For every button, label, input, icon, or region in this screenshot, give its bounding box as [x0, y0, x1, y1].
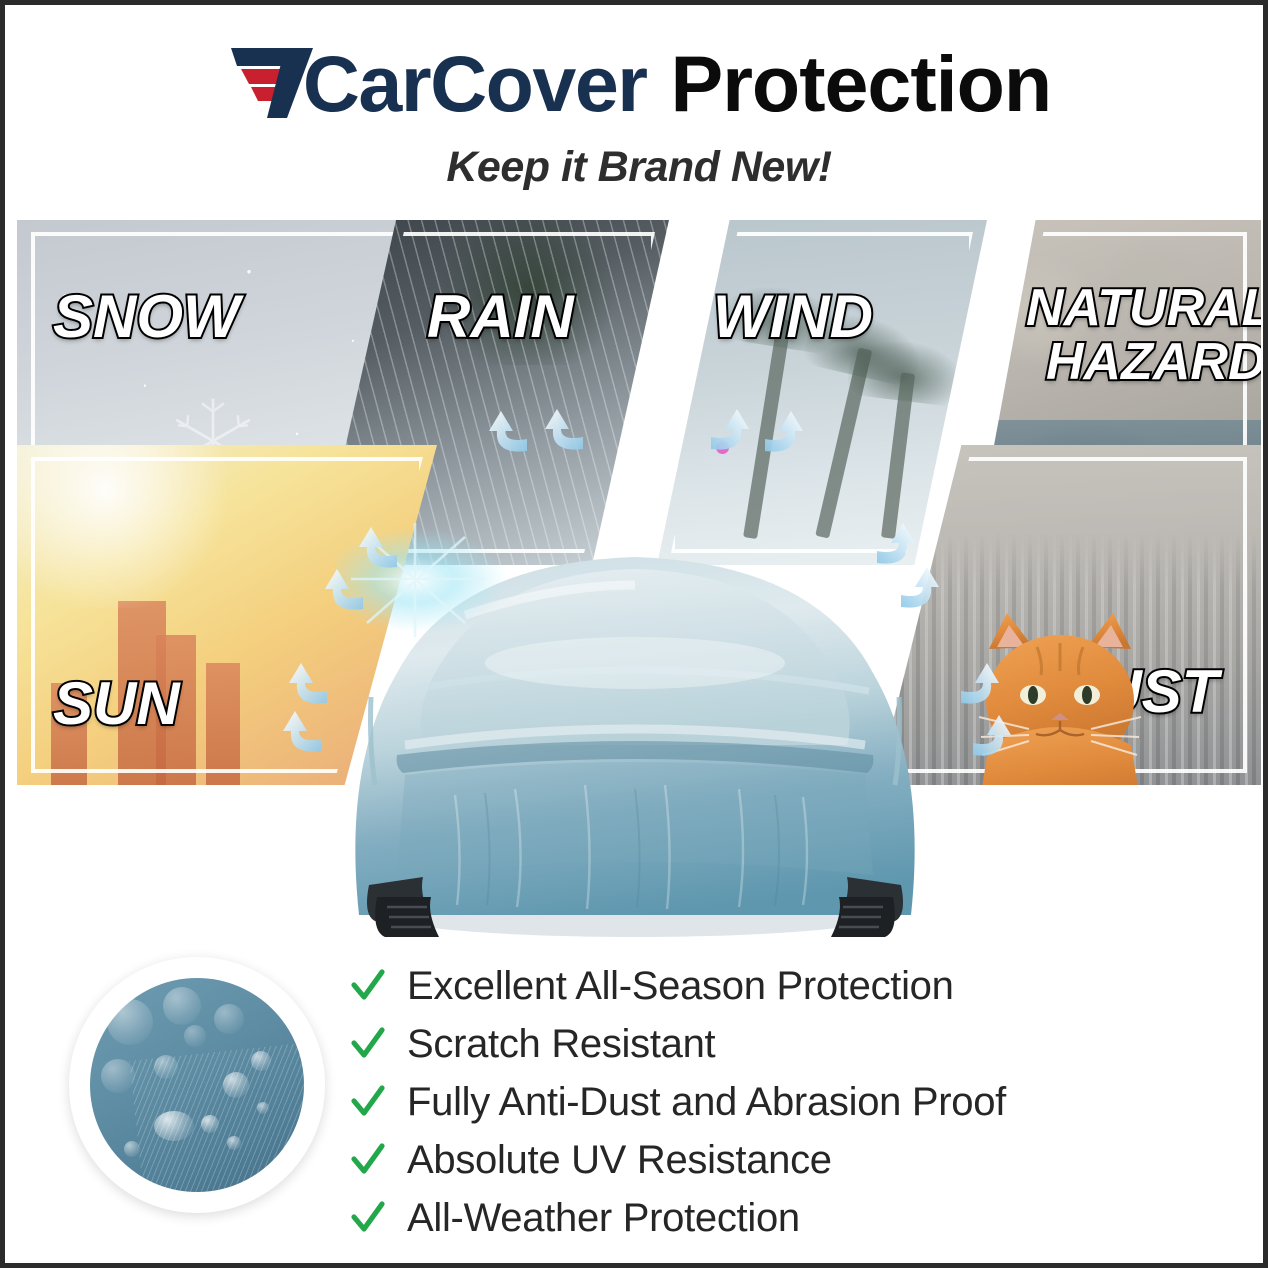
- brand-name: CarCover: [303, 44, 647, 123]
- green-checkmark-icon: [351, 1201, 385, 1235]
- water-bead: [154, 1111, 194, 1141]
- sun-glow: [17, 445, 252, 608]
- deflect-arrow-icon: [287, 657, 333, 709]
- feature-label: Scratch Resistant: [407, 1024, 715, 1064]
- deflect-arrow-icon: [323, 563, 369, 615]
- water-bead: [184, 1025, 206, 1047]
- green-checkmark-icon: [351, 1027, 385, 1061]
- covered-car-image: [335, 445, 935, 945]
- green-checkmark-icon: [351, 1143, 385, 1177]
- water-bead: [214, 1004, 244, 1034]
- panel-label-sun: SUN: [53, 675, 180, 732]
- fabric-closeup: [90, 978, 304, 1192]
- feature-item: All-Weather Protection: [351, 1189, 1141, 1247]
- city-building: [206, 663, 240, 785]
- deflect-arrow-icon: [705, 403, 751, 455]
- feature-label: Excellent All-Season Protection: [407, 966, 954, 1006]
- feature-label: Absolute UV Resistance: [407, 1140, 832, 1180]
- green-checkmark-icon: [351, 1085, 385, 1119]
- tagline: Keep it Brand New!: [5, 143, 1268, 192]
- deflect-arrow-icon: [895, 561, 941, 613]
- icarcover-wing-logo-icon: [227, 44, 323, 122]
- feature-item: Excellent All-Season Protection: [351, 957, 1141, 1015]
- deflect-arrow-icon: [487, 405, 533, 457]
- water-bead: [107, 999, 153, 1045]
- deflect-arrow-icon: [967, 709, 1013, 761]
- green-checkmark-icon: [351, 969, 385, 1003]
- water-bead: [163, 987, 201, 1025]
- water-bead: [124, 1141, 140, 1157]
- feature-item: Scratch Resistant: [351, 1015, 1141, 1073]
- panel-label-snow: SNOW: [53, 288, 240, 345]
- panel-label-natural: NATURAL: [1026, 284, 1261, 333]
- panel-label-hazard: HAZARD: [1046, 338, 1261, 387]
- deflect-arrow-icon: [281, 705, 327, 757]
- water-bead: [223, 1072, 249, 1098]
- product-word: Protection: [671, 44, 1052, 123]
- deflect-arrow-icon: [543, 403, 589, 455]
- panel-label-wind: WIND: [713, 288, 873, 345]
- product-infographic: CarCover Protection Keep it Brand New!: [0, 0, 1268, 1268]
- deflect-arrow-icon: [955, 657, 1001, 709]
- water-bead: [257, 1102, 269, 1114]
- header: CarCover Protection: [5, 23, 1268, 143]
- water-bead: [251, 1051, 271, 1071]
- feature-label: Fully Anti-Dust and Abrasion Proof: [407, 1082, 1006, 1122]
- deflect-arrow-icon: [759, 405, 805, 457]
- feature-list: Excellent All-Season Protection Scratch …: [351, 957, 1141, 1247]
- feature-item: Fully Anti-Dust and Abrasion Proof: [351, 1073, 1141, 1131]
- water-beading-fabric-swatch: [69, 957, 325, 1213]
- feature-item: Absolute UV Resistance: [351, 1131, 1141, 1189]
- water-bead: [101, 1059, 135, 1093]
- panel-label-rain: RAIN: [427, 288, 574, 345]
- feature-label: All-Weather Protection: [407, 1198, 800, 1238]
